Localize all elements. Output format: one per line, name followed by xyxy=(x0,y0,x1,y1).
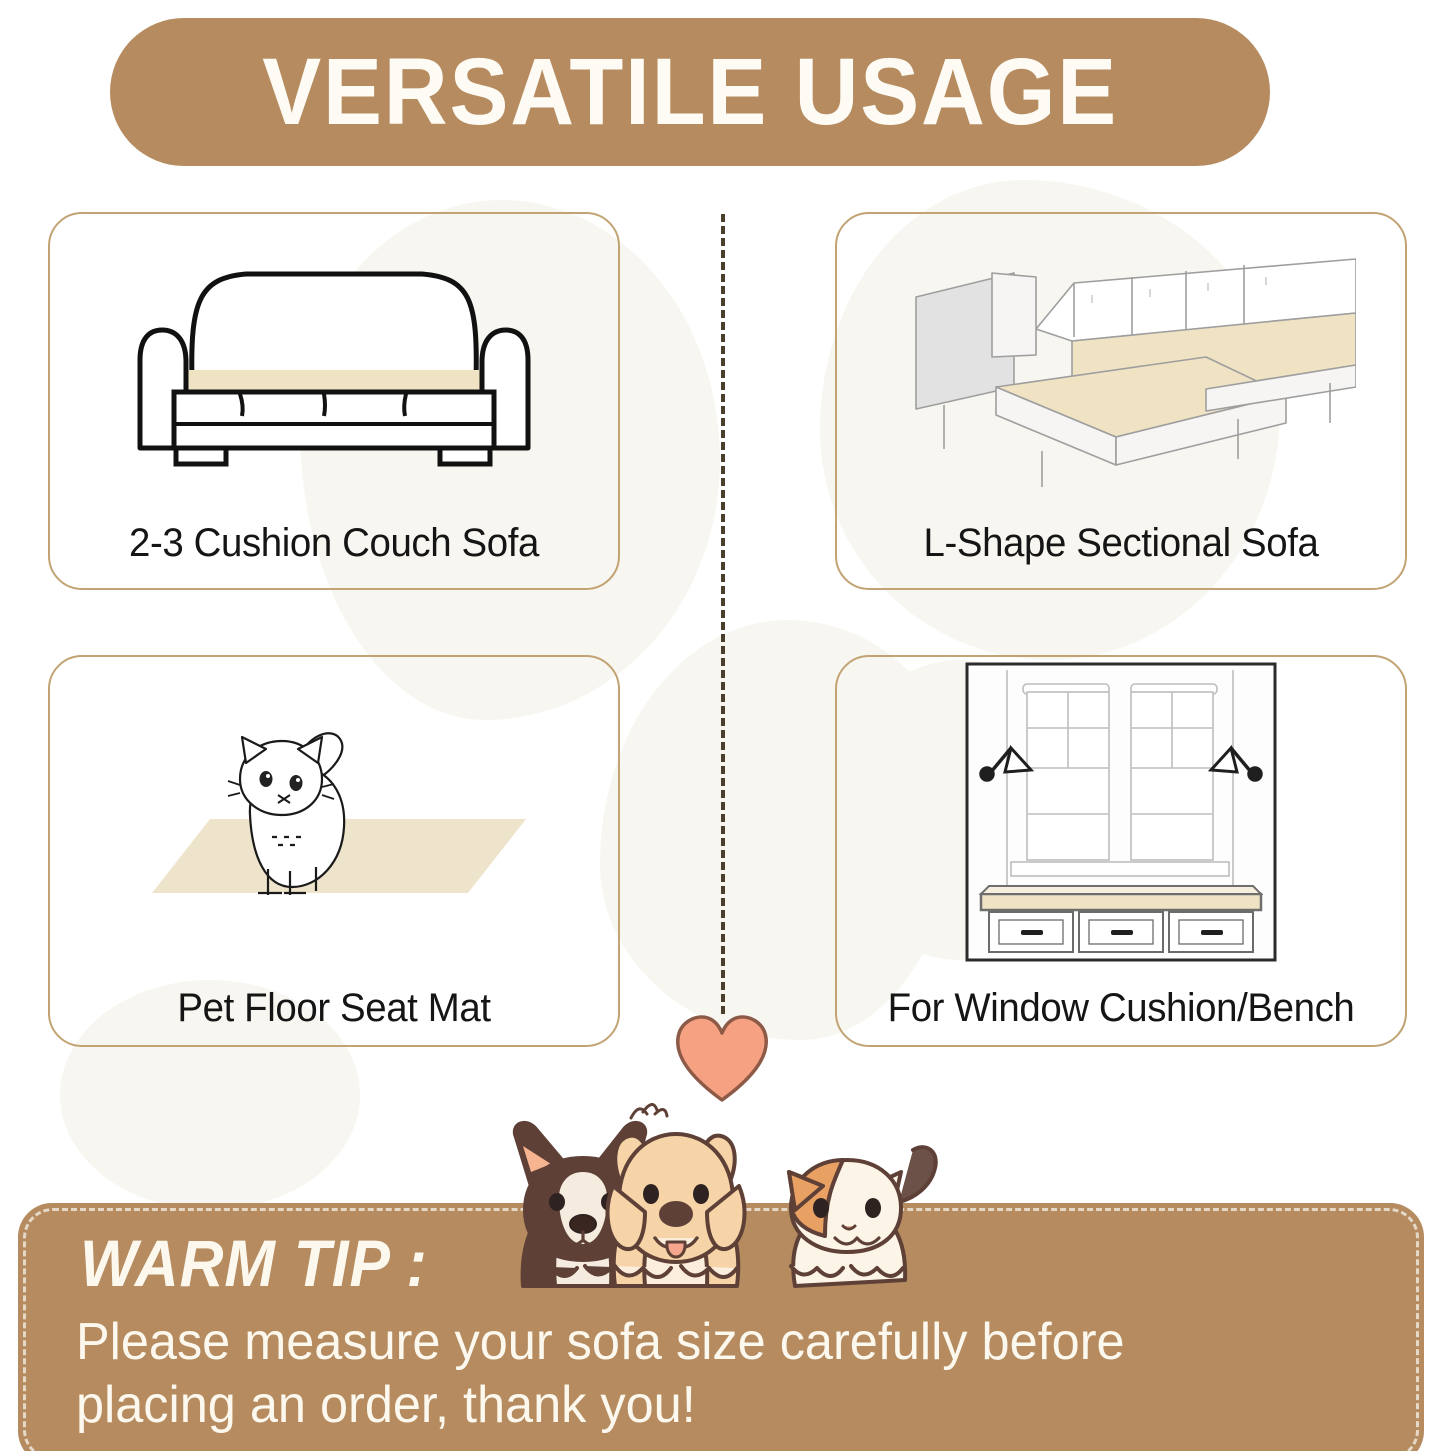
card-label-pet-floor-mat: Pet Floor Seat Mat xyxy=(61,986,606,1031)
usage-card-window-bench[interactable]: For Window Cushion/Bench xyxy=(835,655,1407,1047)
infographic-root: VERSATILE USAGE xyxy=(0,0,1445,1451)
warm-tip-line-1: Please measure your sofa size carefully … xyxy=(76,1311,1345,1374)
card-label-sectional-sofa: L-Shape Sectional Sofa xyxy=(848,521,1393,566)
usage-card-sectional-sofa[interactable]: L-Shape Sectional Sofa xyxy=(835,212,1407,590)
window-bench-art xyxy=(837,665,1405,959)
calico-cat-icon xyxy=(789,1147,936,1286)
couch-sofa-art xyxy=(50,222,618,502)
header-banner: VERSATILE USAGE xyxy=(110,18,1270,166)
card-label-window-bench: For Window Cushion/Bench xyxy=(848,986,1393,1031)
window-bench-illustration xyxy=(965,662,1277,962)
page-title: VERSATILE USAGE xyxy=(262,45,1118,140)
card-label-couch-sofa: 2-3 Cushion Couch Sofa xyxy=(61,521,606,566)
vertical-dashed-divider xyxy=(721,214,725,1014)
sectional-sofa-art xyxy=(837,222,1405,502)
pets-group-icon xyxy=(495,1090,950,1305)
warm-tip-line-2: placing an order, thank you! xyxy=(76,1374,1345,1437)
pet-floor-mat-art xyxy=(50,665,618,959)
cat-on-mat-illustration xyxy=(94,687,574,937)
usage-card-couch-sofa[interactable]: 2-3 Cushion Couch Sofa xyxy=(48,212,620,590)
couch-sofa-illustration xyxy=(134,252,534,472)
pets-illustration xyxy=(495,1090,950,1305)
l-shape-sectional-illustration xyxy=(886,237,1356,487)
warm-tip-heading: WARM TIP : xyxy=(80,1225,428,1301)
usage-card-pet-floor-mat[interactable]: Pet Floor Seat Mat xyxy=(48,655,620,1047)
